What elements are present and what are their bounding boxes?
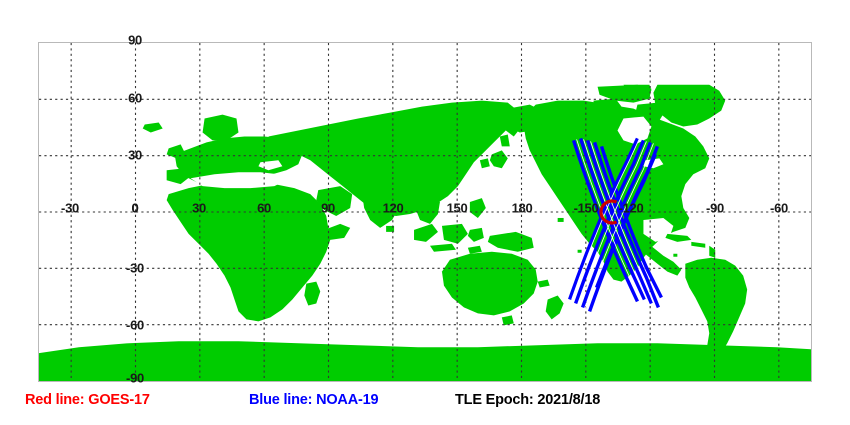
- galapagos: [673, 254, 677, 257]
- legend-blue-line-noaa19: Blue line: NOAA-19: [249, 392, 378, 408]
- pacific-islands: [578, 250, 582, 253]
- world-map-svg: [39, 43, 811, 381]
- satellite-track-map-page: -30 0 30 60 90 120 150 180 -150 -120 -90…: [0, 0, 850, 425]
- legend-red-line-goes17: Red line: GOES-17: [25, 392, 150, 408]
- legend-footer: Red line: GOES-17 Blue line: NOAA-19 TLE…: [0, 392, 850, 420]
- antarctica: [39, 341, 811, 381]
- legend-tle-epoch: TLE Epoch: 2021/8/18: [455, 392, 600, 408]
- world-map-frame: [38, 42, 812, 382]
- hawaii-islands: [558, 218, 564, 222]
